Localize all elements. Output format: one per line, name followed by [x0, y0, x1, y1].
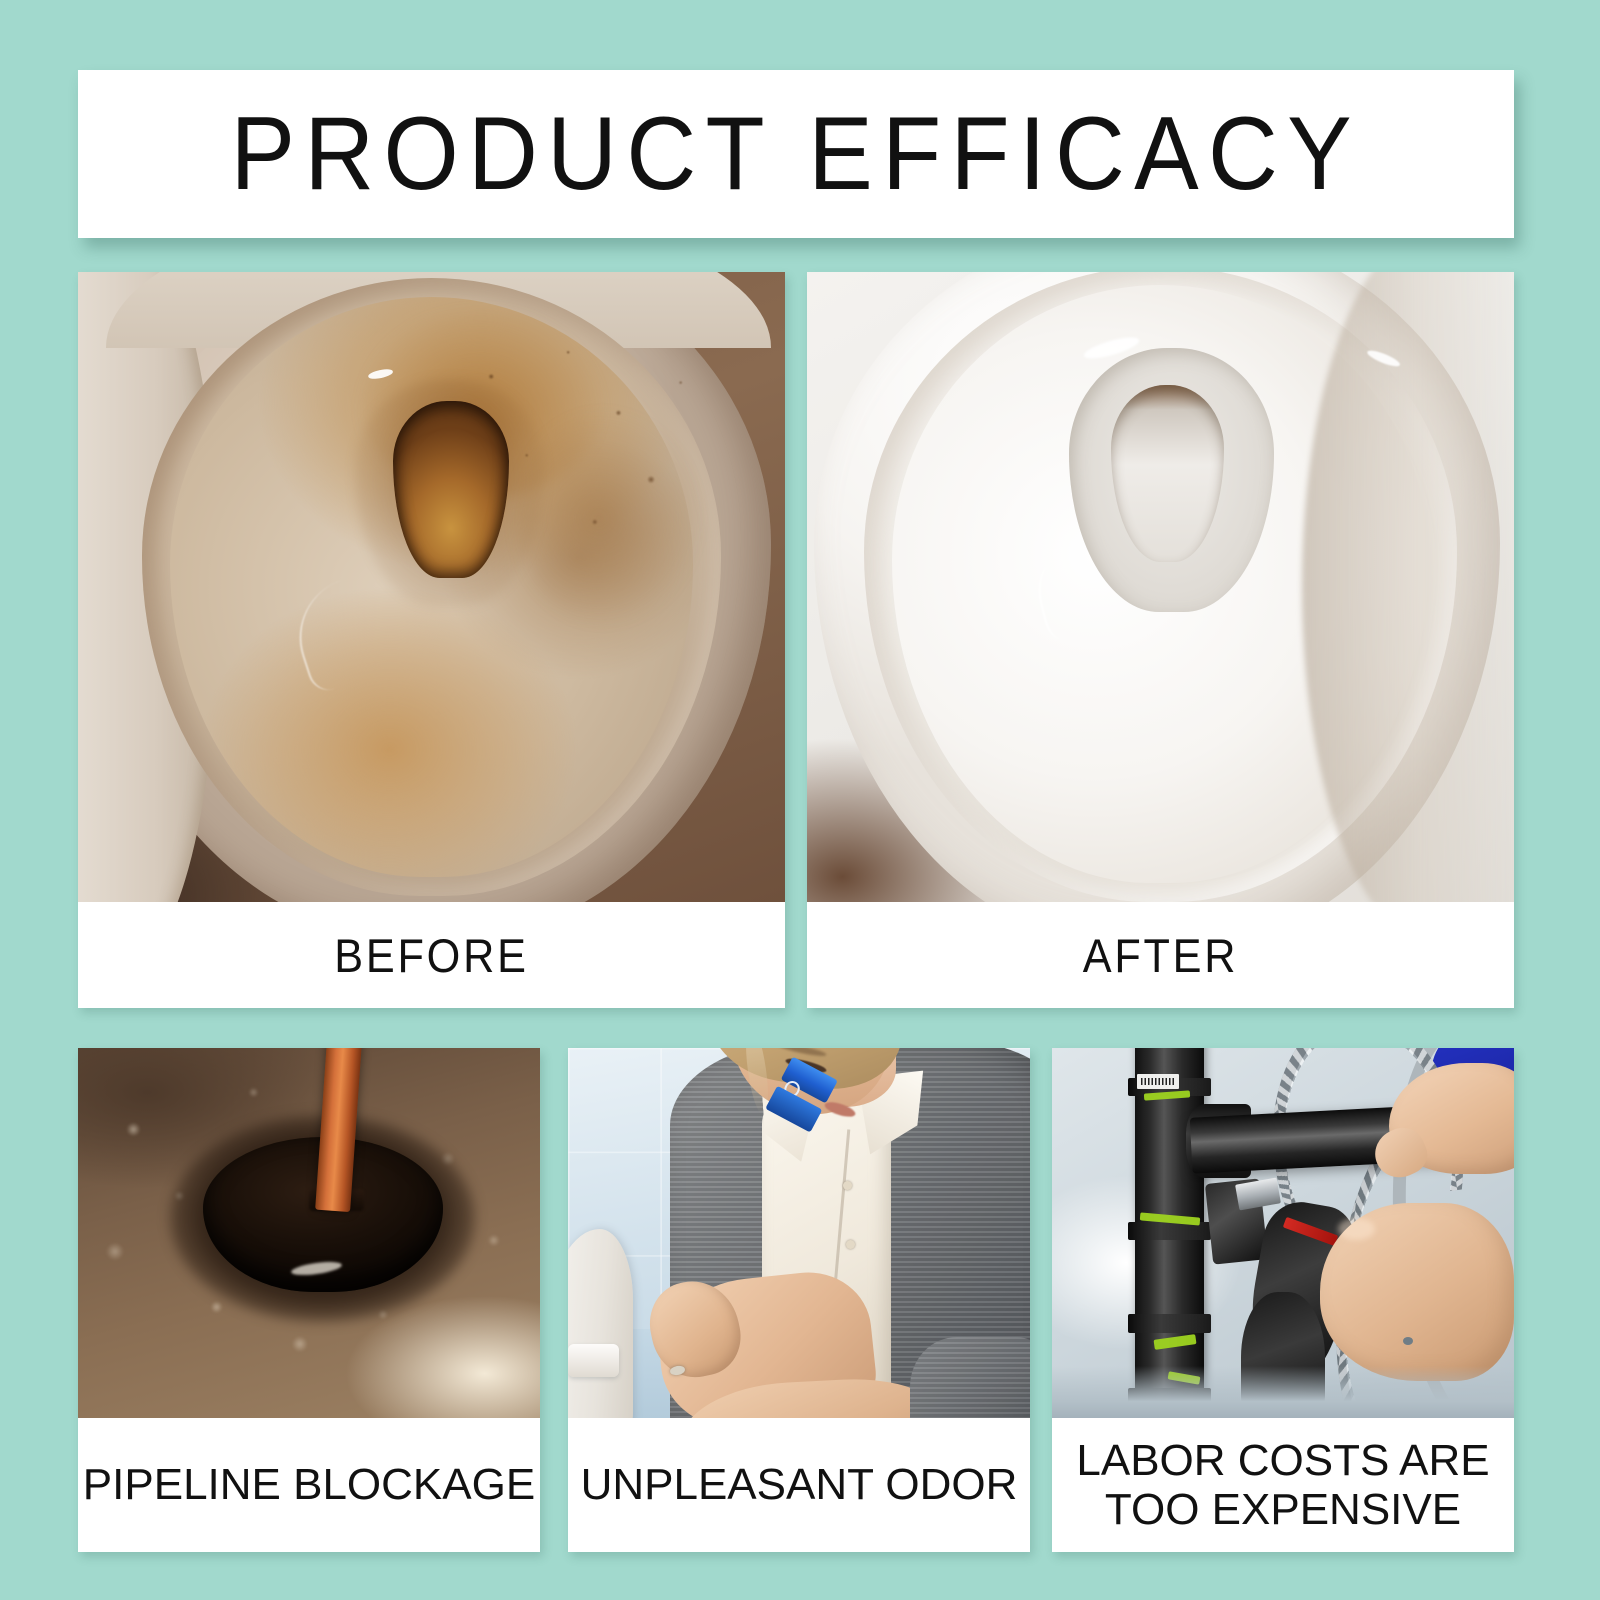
labor-costs-caption-line-2: TOO EXPENSIVE [1105, 1485, 1461, 1534]
pipeline-blockage-caption-bar: PIPELINE BLOCKAGE [78, 1418, 540, 1552]
before-photo [78, 272, 785, 902]
toilet-lid-hinge [568, 1344, 619, 1377]
pipe-coupling [1128, 1314, 1211, 1333]
before-caption-text: BEFORE [334, 928, 528, 983]
blouse-button [843, 1181, 852, 1190]
clean-seat-shadow [1302, 272, 1514, 902]
pipeline-blockage-photo [78, 1048, 540, 1418]
unpleasant-odor-photo [568, 1048, 1030, 1418]
pipeline-blockage-card: PIPELINE BLOCKAGE [78, 1048, 540, 1552]
labor-costs-caption-line-1: LABOR COSTS ARE [1076, 1436, 1489, 1485]
title-banner: PRODUCT EFFICACY [78, 70, 1514, 238]
product-efficacy-poster: PRODUCT EFFICACY BEFORE [0, 0, 1600, 1600]
after-card: AFTER [807, 272, 1514, 1008]
wall-screw-head [1403, 1337, 1413, 1345]
under-sink-floor [1052, 1366, 1514, 1418]
before-card: BEFORE [78, 272, 785, 1008]
cardigan-sleeve [910, 1337, 1030, 1418]
white-toilet-edge [568, 1229, 633, 1418]
woman-with-nose-clip-photo [568, 1048, 1030, 1418]
labor-costs-photo [1052, 1048, 1514, 1418]
unpleasant-odor-caption-bar: UNPLEASANT ODOR [568, 1418, 1030, 1552]
unpleasant-odor-card: UNPLEASANT ODOR [568, 1048, 1030, 1552]
pipeline-blockage-caption-text: PIPELINE BLOCKAGE [83, 1460, 535, 1509]
clean-white-toilet-bowl-photo [807, 272, 1514, 902]
after-caption-bar: AFTER [835, 902, 1485, 1008]
barcode-sticker [1137, 1074, 1179, 1089]
labor-costs-caption-bar: LABOR COSTS ARE TOO EXPENSIVE [1052, 1418, 1514, 1552]
toilet-drain-hole [393, 401, 510, 577]
plunger-in-murky-water-photo [78, 1048, 540, 1418]
stained-dirty-toilet-bowl-photo [78, 272, 785, 902]
plumber-hands-on-black-pipes-photo [1052, 1048, 1514, 1418]
before-caption-bar: BEFORE [106, 902, 756, 1008]
labor-costs-card: LABOR COSTS ARE TOO EXPENSIVE [1052, 1048, 1514, 1552]
page-title: PRODUCT EFFICACY [231, 102, 1361, 206]
after-photo [807, 272, 1514, 902]
after-caption-text: AFTER [1083, 928, 1239, 983]
unpleasant-odor-caption-text: UNPLEASANT ODOR [581, 1460, 1018, 1509]
